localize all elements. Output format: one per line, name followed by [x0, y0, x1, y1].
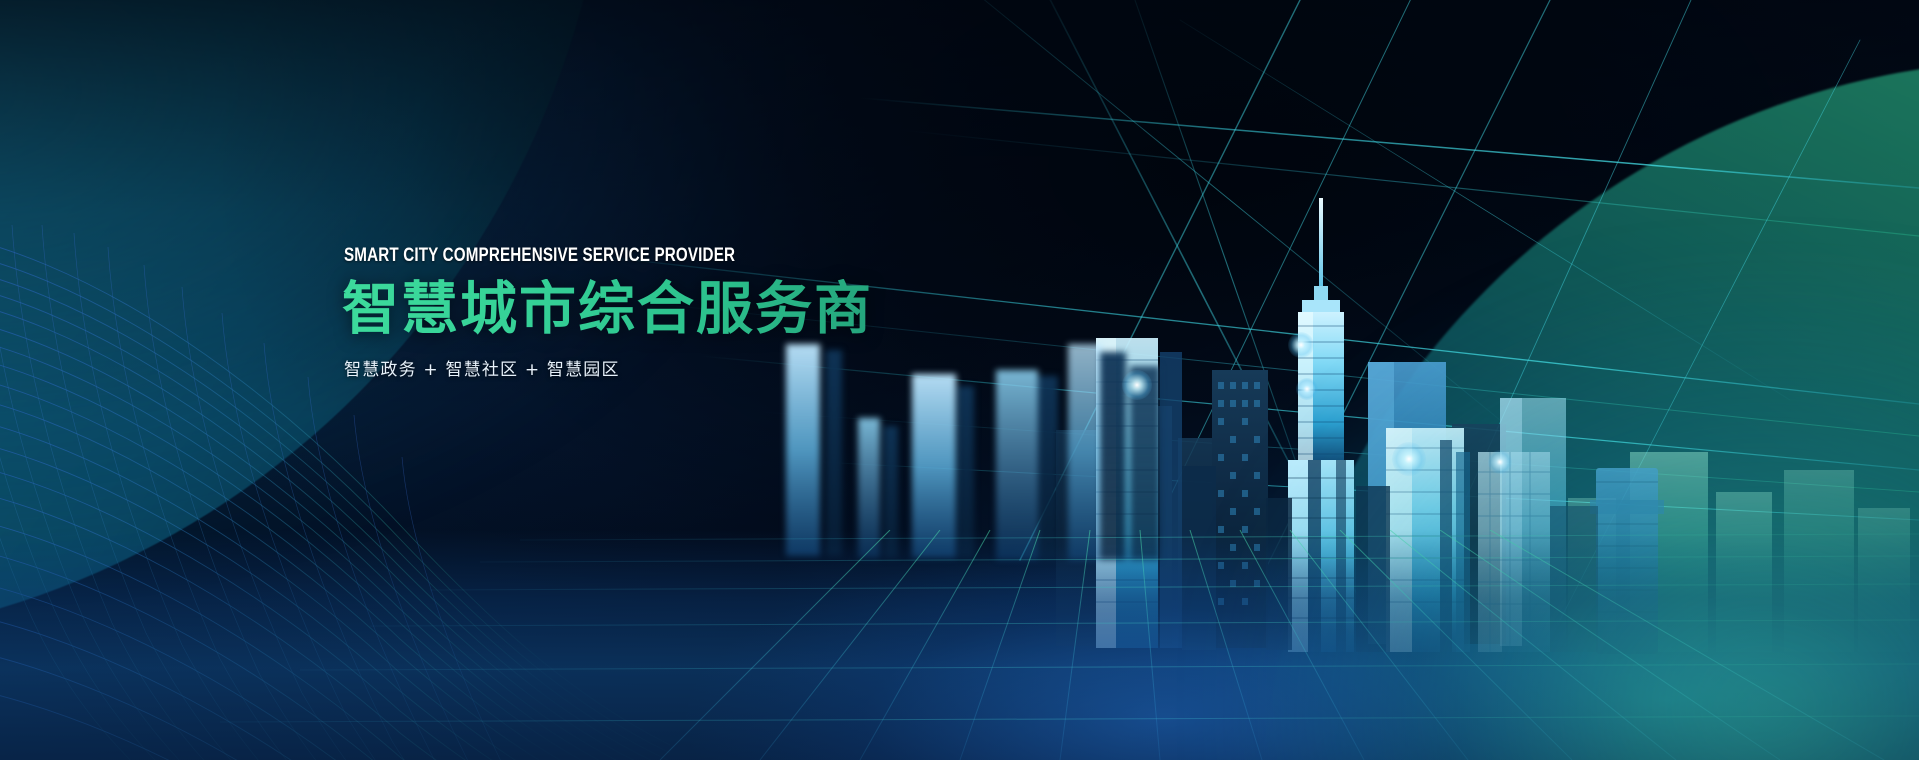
- page-title: 智慧城市综合服务商: [342, 279, 962, 339]
- hero-text-block: SMART CITY COMPREHENSIVE SERVICE PROVIDE…: [342, 246, 962, 380]
- green-sweep-glow: [1219, 260, 1919, 760]
- hero-subtitle: 智慧政务 + 智慧社区 + 智慧园区: [344, 355, 962, 380]
- hero-eyebrow: SMART CITY COMPREHENSIVE SERVICE PROVIDE…: [344, 246, 838, 265]
- smart-city-hero-banner: SMART CITY COMPREHENSIVE SERVICE PROVIDE…: [0, 0, 1919, 760]
